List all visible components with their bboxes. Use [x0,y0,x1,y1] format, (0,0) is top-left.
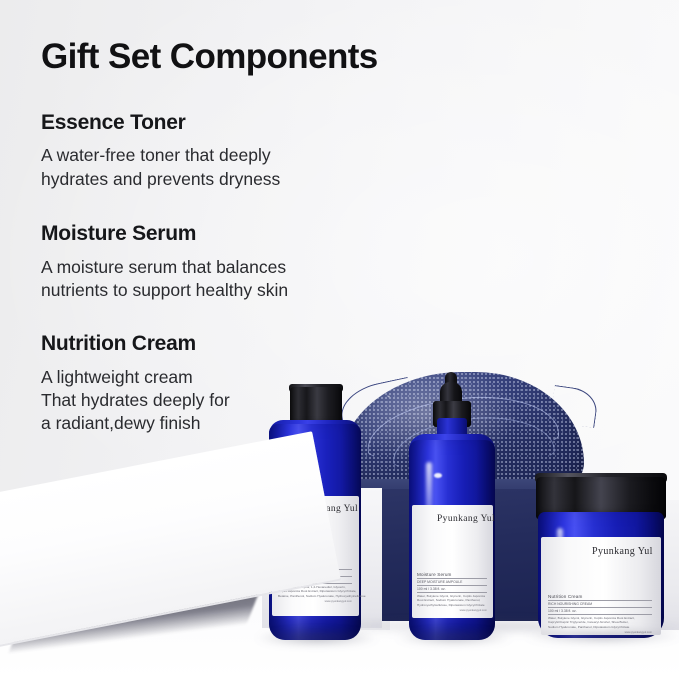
product-marketing-image: Pyunkang Yul Essence Toner MOISTURIZING … [0,0,679,679]
copy-block: Gift Set Components Essence Toner A wate… [41,38,441,436]
section-essence-toner: Essence Toner A water-free toner that de… [41,111,441,191]
section-heading-essence-toner: Essence Toner [41,111,441,136]
section-body-moisture-serum: A moisture serum that balances nutrients… [41,256,441,303]
section-heading-moisture-serum: Moisture Serum [41,222,441,247]
section-body-nutrition-cream: A lightweight cream That hydrates deeply… [41,366,441,436]
page-title: Gift Set Components [41,38,441,77]
section-heading-nutrition-cream: Nutrition Cream [41,332,441,357]
section-nutrition-cream: Nutrition Cream A lightweight cream That… [41,332,441,436]
section-body-essence-toner: A water-free toner that deeply hydrates … [41,144,441,191]
section-moisture-serum: Moisture Serum A moisture serum that bal… [41,222,441,302]
